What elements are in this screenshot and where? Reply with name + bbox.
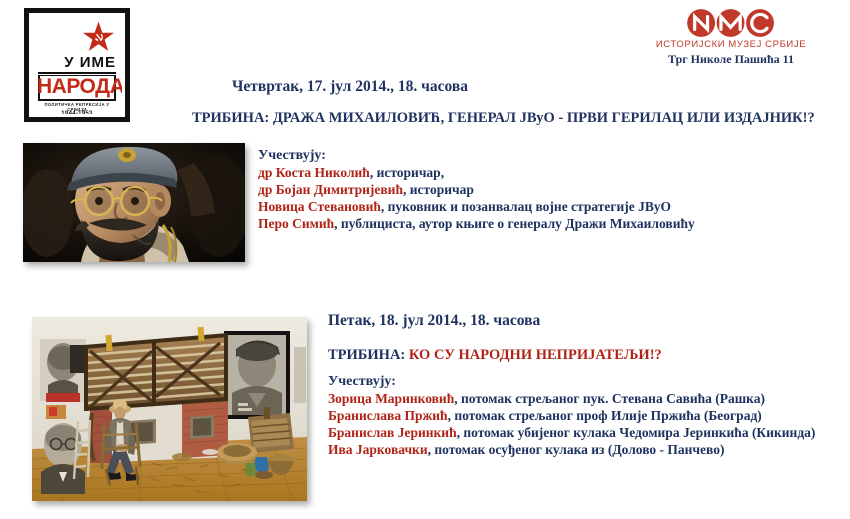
- event-two-title: ТРИБИНА: КО СУ НАРОДНИ НЕПРИЈАТЕЉИ!?: [328, 347, 662, 364]
- participant-name: Зорица Маринковић: [328, 391, 454, 406]
- photo-mihailovic: [23, 143, 245, 262]
- exhibition-logo-inner: У ИМЕ НАРОДА! ПОЛИТИЧКА РЕПРЕСИЈА У СРБИ…: [32, 16, 122, 114]
- event-two-participants-label: Учествују:: [328, 374, 843, 390]
- event-one-title: ТРИБИНА: ДРАЖА МИХАИЛОВИЋ, ГЕНЕРАЛ ЈВуО …: [192, 110, 815, 127]
- participant-role: , потомак стрељаног проф Илије Пржића (Б…: [448, 408, 762, 423]
- museum-exhibition-illustration: [32, 317, 307, 501]
- museum-logo: ИСТОРИЈСКИ МУЗЕЈ СРБИЈЕ Трг Николе Пашић…: [636, 8, 826, 67]
- list-item: Зорица Маринковић, потомак стрељаног пук…: [328, 390, 843, 407]
- list-item: Бранислава Пржић, потомак стрељаног проф…: [328, 407, 843, 424]
- event-two-participants: Учествују: Зорица Маринковић, потомак ст…: [328, 374, 843, 458]
- participant-role: , потомак убијеног кулака Чедомира Јерин…: [457, 425, 816, 440]
- list-item: Новица Стевановић, пуковник и позанвалац…: [258, 198, 695, 215]
- list-item: др Бојан Димитријевић, историчар: [258, 181, 695, 198]
- exhibition-logo-line1: У ИМЕ: [32, 54, 116, 71]
- exhibition-logo-line2: НАРОДА!: [37, 76, 118, 98]
- participant-name: Бранислав Јеринкић: [328, 425, 457, 440]
- exhibition-logo-rule-top: [38, 72, 116, 74]
- participant-name: др Коста Николић: [258, 165, 370, 180]
- list-item: Бранислав Јеринкић, потомак убијеног кул…: [328, 424, 843, 441]
- list-item: Перо Симић, публициста, аутор књиге о ге…: [258, 215, 695, 232]
- event-one-date: Четвртак, 17. јул 2014., 18. часова: [232, 78, 468, 96]
- list-item: Ива Јарковачки, потомак осуђеног кулака …: [328, 441, 843, 458]
- red-star-hammer-sickle-icon: [82, 21, 115, 54]
- portrait-illustration: [23, 143, 245, 262]
- participant-role: , публициста, аутор књиге о генералу Дра…: [334, 216, 695, 231]
- participant-name: др Бојан Димитријевић: [258, 182, 403, 197]
- participant-role: , историчар: [403, 182, 474, 197]
- participant-name: Перо Симић: [258, 216, 334, 231]
- photo-exhibition: [32, 317, 307, 501]
- participant-name: Ива Јарковачки: [328, 442, 428, 457]
- exhibition-logo: У ИМЕ НАРОДА! ПОЛИТИЧКА РЕПРЕСИЈА У СРБИ…: [24, 8, 130, 122]
- participant-role: , историчар,: [370, 165, 444, 180]
- participant-role: , потомак осуђеног кулака из (Долово - П…: [428, 442, 725, 457]
- exhibition-logo-rule-bottom: [38, 99, 116, 101]
- participant-role: , потомак стрељаног пук. Стевана Савића …: [454, 391, 765, 406]
- museum-name: ИСТОРИЈСКИ МУЗЕЈ СРБИЈЕ: [636, 39, 826, 50]
- participant-role: , пуковник и позанвалац војне стратегије…: [381, 199, 671, 214]
- list-item: др Коста Николић, историчар,: [258, 164, 695, 181]
- event-one-participants: Учествују: др Коста Николић, историчар, …: [258, 148, 695, 232]
- exhibition-logo-years: 1944-1953: [35, 111, 119, 114]
- event-one-participants-label: Учествују:: [258, 148, 695, 164]
- participant-name: Бранислава Пржић: [328, 408, 448, 423]
- museum-address: Трг Николе Пашића 11: [636, 52, 826, 67]
- event-two-date: Петак, 18. јул 2014., 18. часова: [328, 312, 540, 330]
- event-two-title-highlight: КО СУ НАРОДНИ НЕПРИЈАТЕЉИ!?: [409, 347, 662, 363]
- participant-name: Новица Стевановић: [258, 199, 381, 214]
- ims-monogram-icon: [677, 8, 784, 38]
- event-two-title-prefix: ТРИБИНА:: [328, 347, 409, 363]
